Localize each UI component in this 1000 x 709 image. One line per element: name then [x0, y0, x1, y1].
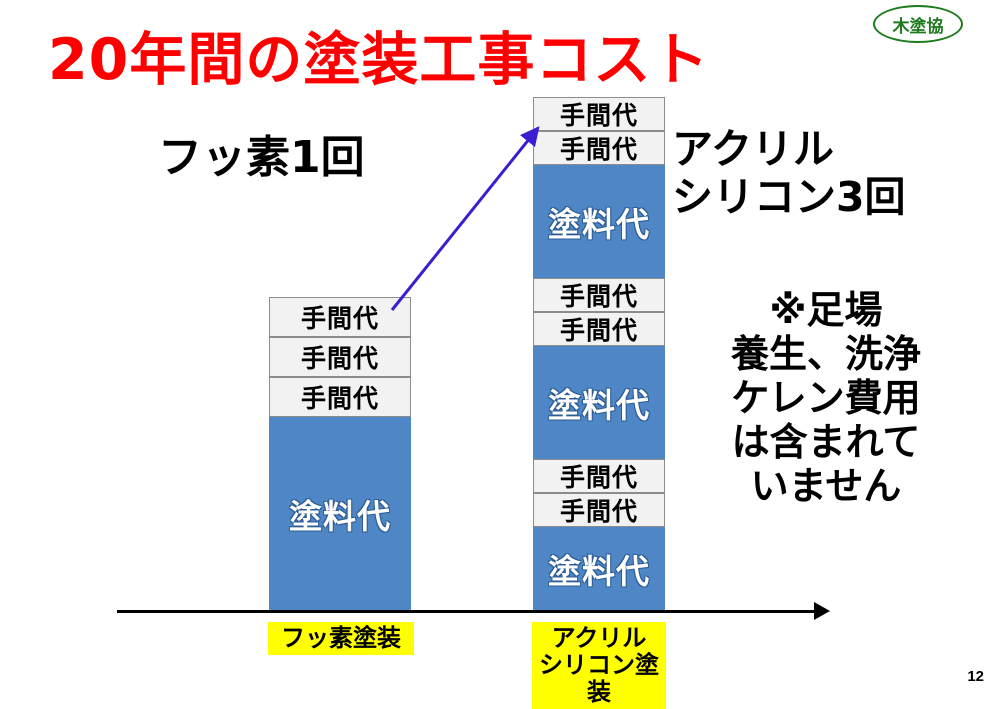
bar-segment-labor-cost: 手間代: [533, 493, 665, 527]
bar-segment-labor-cost: 手間代: [533, 97, 665, 131]
slide: 木塗協 20年間の塗装工事コスト フッ素1回 アクリル シリコン3回 ※足場 養…: [0, 0, 1000, 693]
bar-segment-labor-cost: 手間代: [269, 337, 411, 377]
logo-text: 木塗協: [893, 12, 944, 37]
bar-segment-labor-cost: 手間代: [269, 377, 411, 417]
organization-logo: 木塗協: [873, 5, 963, 43]
bar-segment-labor-cost: 手間代: [533, 459, 665, 493]
x-axis-arrowhead: [814, 602, 830, 620]
x-label-fusso: フッ素塗装: [268, 622, 414, 655]
bar-fusso: 手間代手間代手間代塗料代: [269, 297, 411, 610]
note-line-3: ケレン費用: [731, 376, 921, 420]
x-label-acryl-line2: シリコン塗装: [532, 652, 666, 706]
note-line-5: いません: [731, 464, 921, 508]
x-axis-line: [117, 610, 817, 613]
left-bar-label: フッ素1回: [158, 121, 365, 185]
bar-segment-labor-cost: 手間代: [533, 131, 665, 165]
x-label-acryl-silicon: アクリル シリコン塗装: [532, 622, 666, 709]
note-line-2: 養生、洗浄: [731, 332, 921, 376]
page-title: 20年間の塗装工事コスト: [48, 14, 709, 96]
right-bar-label: アクリル シリコン3回: [672, 125, 906, 222]
bar-acryl-silicon: 手間代手間代塗料代手間代手間代塗料代手間代手間代塗料代: [533, 97, 665, 610]
bar-segment-paint-cost: 塗料代: [533, 165, 665, 278]
bar-segment-paint-cost: 塗料代: [269, 417, 411, 610]
bar-segment-labor-cost: 手間代: [533, 312, 665, 346]
bar-segment-labor-cost: 手間代: [533, 278, 665, 312]
right-bar-label-line1: アクリル: [672, 125, 906, 173]
note-line-4: は含まれて: [731, 420, 921, 464]
right-bar-label-line2: シリコン3回: [672, 173, 906, 221]
note-text: ※足場 養生、洗浄 ケレン費用 は含まれて いません: [731, 288, 921, 508]
bar-segment-paint-cost: 塗料代: [533, 527, 665, 610]
bar-segment-paint-cost: 塗料代: [533, 346, 665, 459]
note-line-1: ※足場: [731, 288, 921, 332]
x-label-acryl-line1: アクリル: [532, 625, 666, 652]
bar-segment-labor-cost: 手間代: [269, 297, 411, 337]
page-number: 12: [967, 668, 984, 685]
